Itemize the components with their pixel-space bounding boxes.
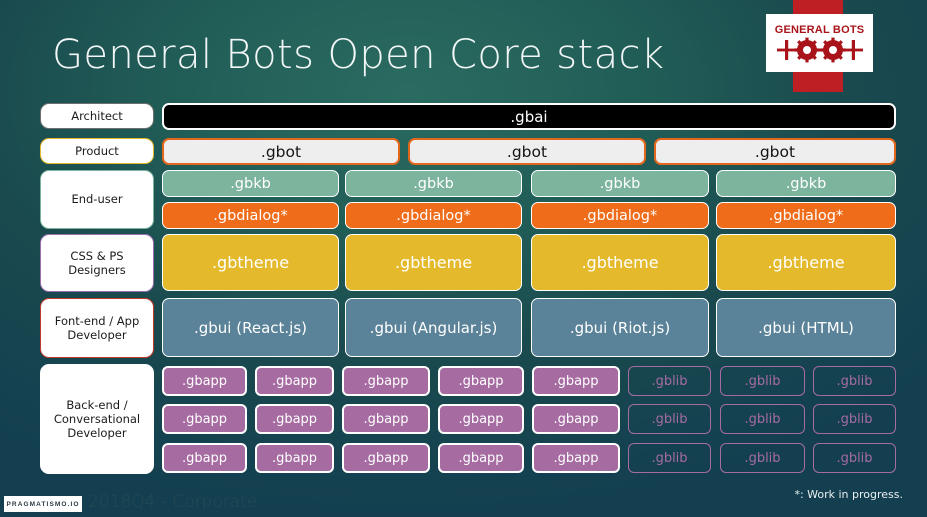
cell-label: .gbui (React.js) xyxy=(194,319,307,337)
cell-label: .gbapp xyxy=(458,451,503,466)
gbapp-cell[interactable]: .gbapp xyxy=(438,366,524,396)
role-item-end-user[interactable]: End-user xyxy=(40,170,154,229)
gbapp-cell[interactable]: .gbapp xyxy=(162,404,247,434)
pragmatismo-logo-text: PRAGMATISMO.IO xyxy=(6,501,79,508)
gbapp-cell[interactable]: .gbapp xyxy=(532,443,620,473)
gbkb-row-cell[interactable]: .gbkb xyxy=(716,170,896,197)
cell-label: .gblib xyxy=(651,374,687,389)
cell-label: .gblib xyxy=(836,374,872,389)
role-item-label: Font-end / App Developer xyxy=(45,314,149,342)
cell-label: .gbapp xyxy=(553,374,598,389)
gbdialog-row-cell[interactable]: .gbdialog* xyxy=(716,202,896,229)
gbtheme-row-cell[interactable]: .gbtheme xyxy=(345,234,522,291)
gblib-cell[interactable]: .gblib xyxy=(720,404,805,434)
gbui-row-cell[interactable]: .gbui (HTML) xyxy=(716,298,896,357)
gbapp-cell[interactable]: .gbapp xyxy=(532,366,620,396)
cell-label: .gbot xyxy=(507,143,547,161)
role-item-label: CSS & PS Designers xyxy=(45,249,149,277)
general-bots-logo-text: GENERAL BOTS xyxy=(775,24,865,36)
gblib-cell[interactable]: .gblib xyxy=(720,366,805,396)
cell-label: .gbapp xyxy=(363,374,408,389)
cell-label: .gbkb xyxy=(413,176,454,192)
gears-icon xyxy=(777,37,863,63)
gbkb-row-cell[interactable]: .gbkb xyxy=(531,170,709,197)
role-item-label: Back-end / Conversational Developer xyxy=(45,398,149,440)
footnote: *: Work in progress. xyxy=(794,488,903,501)
cell-label: .gbkb xyxy=(230,176,271,192)
cell-label: .gbui (Riot.js) xyxy=(570,319,670,337)
gbot-row-cell[interactable]: .gbot xyxy=(408,138,646,165)
gbdialog-row-cell[interactable]: .gbdialog* xyxy=(162,202,339,229)
cell-label: .gbapp xyxy=(272,374,317,389)
gbapp-cell[interactable]: .gbapp xyxy=(342,366,430,396)
cell-label: .gbapp xyxy=(363,451,408,466)
gbapp-cell[interactable]: .gbapp xyxy=(438,404,524,434)
gbkb-row-cell[interactable]: .gbkb xyxy=(162,170,339,197)
cell-label: .gbapp xyxy=(458,374,503,389)
cell-label: .gbot xyxy=(755,143,795,161)
gbai-row-cell[interactable]: .gbai xyxy=(162,103,896,130)
gbot-row-cell[interactable]: .gbot xyxy=(162,138,400,165)
gblib-cell[interactable]: .gblib xyxy=(628,404,711,434)
gbtheme-row-cell[interactable]: .gbtheme xyxy=(162,234,339,291)
gbtheme-row-cell[interactable]: .gbtheme xyxy=(531,234,709,291)
gblib-cell[interactable]: .gblib xyxy=(813,404,896,434)
gbkb-row-cell[interactable]: .gbkb xyxy=(345,170,522,197)
role-item-architect[interactable]: Architect xyxy=(40,103,154,129)
cell-label: .gbapp xyxy=(182,451,227,466)
gblib-cell[interactable]: .gblib xyxy=(628,443,711,473)
gbapp-cell[interactable]: .gbapp xyxy=(255,404,334,434)
gbapp-cell[interactable]: .gbapp xyxy=(532,404,620,434)
cell-label: .gbui (Angular.js) xyxy=(370,319,498,337)
gblib-cell[interactable]: .gblib xyxy=(628,366,711,396)
gbot-row-cell[interactable]: .gbot xyxy=(654,138,896,165)
general-bots-logo: GENERAL BOTS xyxy=(766,14,873,72)
cell-label: .gbapp xyxy=(182,412,227,427)
gbapp-cell[interactable]: .gbapp xyxy=(255,366,334,396)
cell-label: .gblib xyxy=(836,412,872,427)
cell-label: .gbdialog* xyxy=(583,208,658,224)
cell-label: .gbdialog* xyxy=(769,208,844,224)
role-item-back-end-conversational-developer[interactable]: Back-end / Conversational Developer xyxy=(40,364,154,474)
cell-label: .gblib xyxy=(651,412,687,427)
cell-label: .gbot xyxy=(261,143,301,161)
gblib-cell[interactable]: .gblib xyxy=(720,443,805,473)
cell-label: .gbtheme xyxy=(212,253,289,272)
gbapp-cell[interactable]: .gbapp xyxy=(162,443,247,473)
gbui-row-cell[interactable]: .gbui (React.js) xyxy=(162,298,339,357)
cell-label: .gbtheme xyxy=(767,253,844,272)
gbapp-cell[interactable]: .gbapp xyxy=(255,443,334,473)
cell-label: .gbapp xyxy=(553,451,598,466)
cell-label: .gblib xyxy=(744,412,780,427)
pragmatismo-logo: PRAGMATISMO.IO xyxy=(4,496,82,512)
role-item-label: Architect xyxy=(71,109,123,123)
cell-label: .gblib xyxy=(744,374,780,389)
cell-label: .gbapp xyxy=(553,412,598,427)
gbui-row-cell[interactable]: .gbui (Riot.js) xyxy=(531,298,709,357)
cell-label: .gbkb xyxy=(600,176,641,192)
cell-label: .gbapp xyxy=(272,412,317,427)
role-item-font-end-app-developer[interactable]: Font-end / App Developer xyxy=(40,298,154,358)
role-item-product[interactable]: Product xyxy=(40,138,154,164)
cell-label: .gbapp xyxy=(458,412,503,427)
page-title: General Bots Open Core stack xyxy=(52,32,665,78)
role-item-label: Product xyxy=(75,144,119,158)
cell-label: .gbdialog* xyxy=(396,208,471,224)
gbapp-cell[interactable]: .gbapp xyxy=(342,443,430,473)
cell-label: .gbui (HTML) xyxy=(758,319,854,337)
cell-label: .gbai xyxy=(510,108,547,126)
gbtheme-row-cell[interactable]: .gbtheme xyxy=(716,234,896,291)
cell-label: .gbapp xyxy=(272,451,317,466)
gblib-cell[interactable]: .gblib xyxy=(813,366,896,396)
gbapp-cell[interactable]: .gbapp xyxy=(162,366,247,396)
cell-label: .gbtheme xyxy=(581,253,658,272)
gbdialog-row-cell[interactable]: .gbdialog* xyxy=(531,202,709,229)
gbapp-cell[interactable]: .gbapp xyxy=(342,404,430,434)
cell-label: .gbtheme xyxy=(395,253,472,272)
cell-label: .gblib xyxy=(744,451,780,466)
footer-caption: 2018Q4 - Corporate xyxy=(88,492,257,512)
role-item-css-ps-designers[interactable]: CSS & PS Designers xyxy=(40,234,154,292)
gbui-row-cell[interactable]: .gbui (Angular.js) xyxy=(345,298,522,357)
role-item-label: End-user xyxy=(71,192,122,206)
slide-canvas: General Bots Open Core stack GENERAL BOT… xyxy=(0,0,927,517)
gblib-cell[interactable]: .gblib xyxy=(813,443,896,473)
cell-label: .gbapp xyxy=(182,374,227,389)
cell-label: .gbapp xyxy=(363,412,408,427)
gbdialog-row-cell[interactable]: .gbdialog* xyxy=(345,202,522,229)
cell-label: .gblib xyxy=(836,451,872,466)
cell-label: .gbdialog* xyxy=(213,208,288,224)
cell-label: .gblib xyxy=(651,451,687,466)
gbapp-cell[interactable]: .gbapp xyxy=(438,443,524,473)
cell-label: .gbkb xyxy=(786,176,827,192)
